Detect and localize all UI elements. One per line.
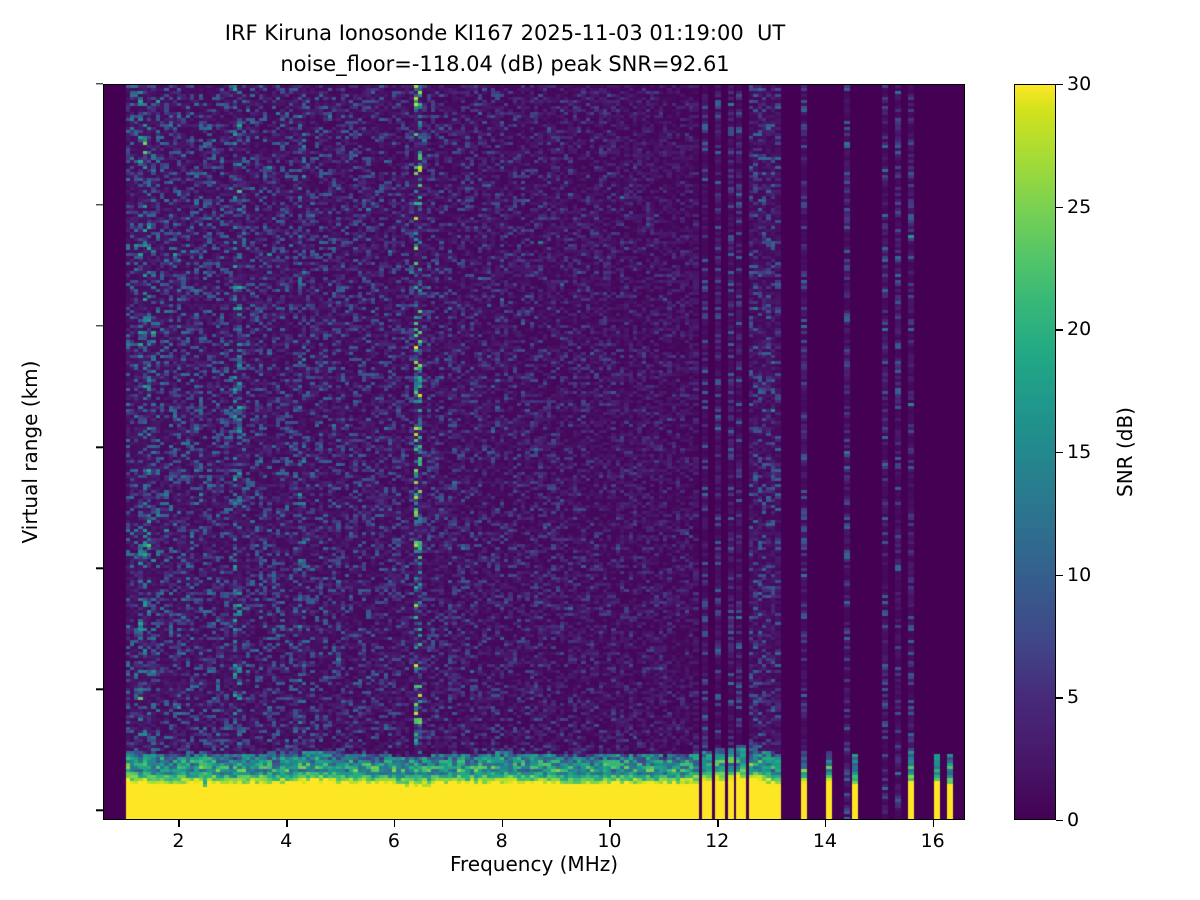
x-tick-label: 4 (280, 830, 292, 852)
colorbar-tick-mark (1056, 329, 1063, 330)
colorbar-tick-mark (1056, 697, 1063, 698)
colorbar-tick-mark (1056, 84, 1063, 85)
colorbar-tick-mark (1056, 207, 1063, 208)
x-tick-label: 10 (597, 830, 621, 852)
x-tick-label: 16 (921, 830, 945, 852)
x-tick-mark (394, 820, 395, 827)
y-tick-mark (96, 204, 103, 205)
colorbar-tick-label: 25 (1067, 196, 1091, 218)
colorbar-gradient (1014, 84, 1056, 820)
x-tick-mark (933, 820, 934, 827)
chart-title-line-2: noise_floor=-118.04 (dB) peak SNR=92.61 (0, 49, 1010, 80)
colorbar-tick-label: 10 (1067, 564, 1091, 586)
x-tick-mark (502, 820, 503, 827)
x-tick-label: 14 (813, 830, 837, 852)
x-tick-label: 2 (172, 830, 184, 852)
x-tick-mark (178, 820, 179, 827)
x-tick-label: 6 (388, 830, 400, 852)
x-tick-label: 8 (496, 830, 508, 852)
x-axis-label: Frequency (MHz) (103, 852, 965, 876)
colorbar-tick-label: 15 (1067, 441, 1091, 463)
ionogram-plot-area (103, 84, 965, 820)
colorbar-tick-mark (1056, 820, 1063, 821)
x-tick-label: 12 (705, 830, 729, 852)
x-tick-mark (825, 820, 826, 827)
colorbar-tick-label: 5 (1067, 686, 1079, 708)
colorbar-label: SNR (dB) (1113, 84, 1137, 820)
ionogram-heatmap (104, 85, 965, 820)
y-tick-mark (96, 446, 103, 447)
colorbar-tick-mark (1056, 452, 1063, 453)
x-tick-mark (717, 820, 718, 827)
x-tick-mark (609, 820, 610, 827)
y-axis-label: Virtual range (km) (18, 84, 42, 820)
chart-title-line-1: IRF Kiruna Ionosonde KI167 2025-11-03 01… (0, 18, 1010, 49)
y-tick-mark (96, 83, 103, 84)
colorbar-tick-mark (1056, 575, 1063, 576)
colorbar-tick-label: 0 (1067, 809, 1079, 831)
y-tick-mark (96, 568, 103, 569)
x-tick-mark (286, 820, 287, 827)
colorbar-tick-label: 30 (1067, 73, 1091, 95)
y-tick-mark (96, 689, 103, 690)
y-tick-mark (96, 810, 103, 811)
chart-title: IRF Kiruna Ionosonde KI167 2025-11-03 01… (0, 18, 1010, 80)
colorbar-tick-label: 20 (1067, 318, 1091, 340)
y-tick-mark (96, 325, 103, 326)
